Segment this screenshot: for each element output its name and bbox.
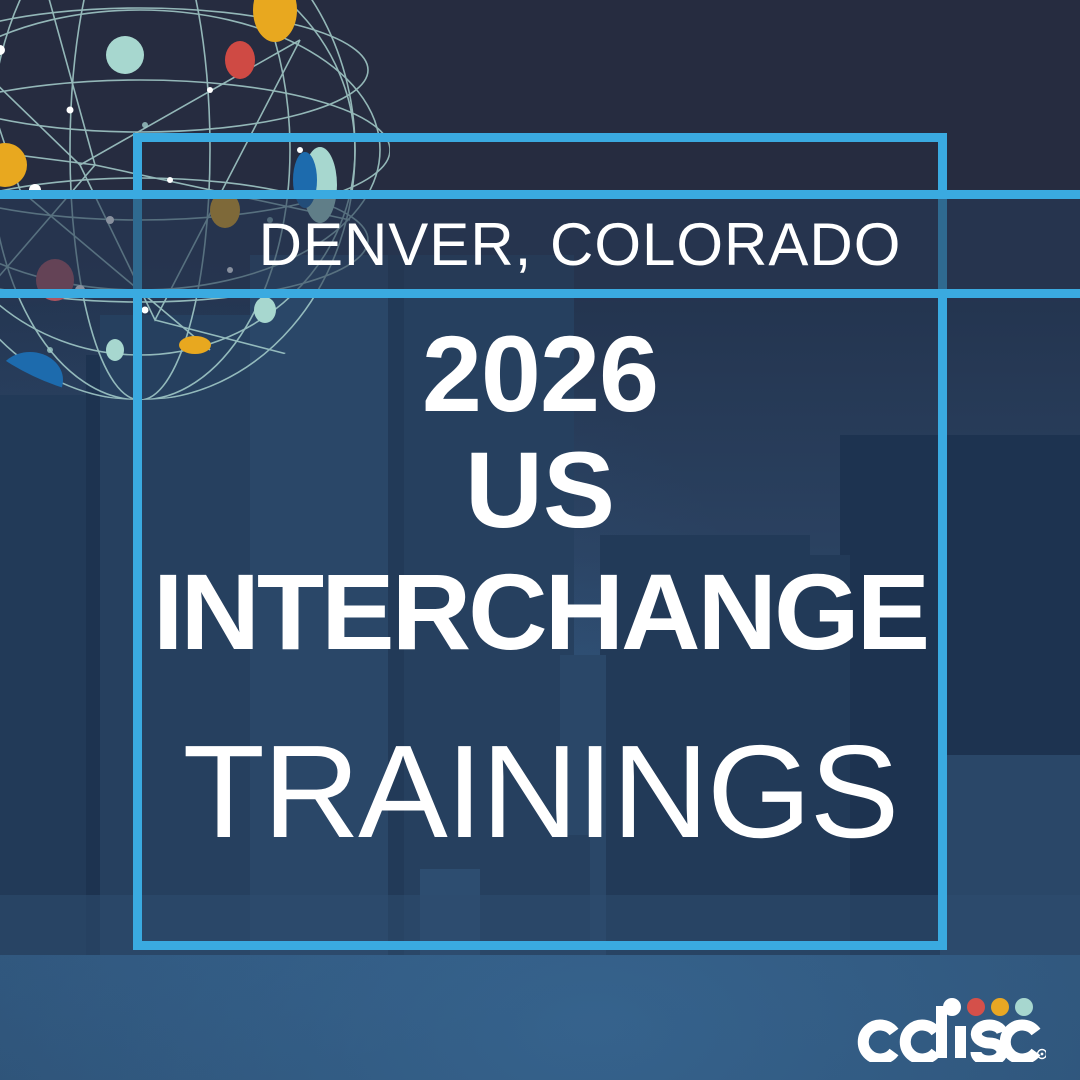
title-region: US bbox=[133, 436, 947, 544]
cdisc-logo bbox=[856, 990, 1046, 1062]
dot-red bbox=[967, 998, 985, 1016]
poster-canvas: DENVER, COLORADO 2026 US INTERCHANGE TRA… bbox=[0, 0, 1080, 1080]
band-line-bottom bbox=[0, 289, 1080, 298]
band-line-top bbox=[0, 190, 1080, 199]
dot-gold bbox=[991, 998, 1009, 1016]
title-subject: TRAININGS bbox=[125, 726, 955, 858]
title-year: 2026 bbox=[133, 320, 947, 428]
dot-teal bbox=[1015, 998, 1033, 1016]
title-event: INTERCHANGE bbox=[125, 558, 955, 666]
title-block: 2026 US INTERCHANGE TRAININGS bbox=[133, 320, 947, 858]
location-label: DENVER, COLORADO bbox=[0, 199, 1080, 289]
